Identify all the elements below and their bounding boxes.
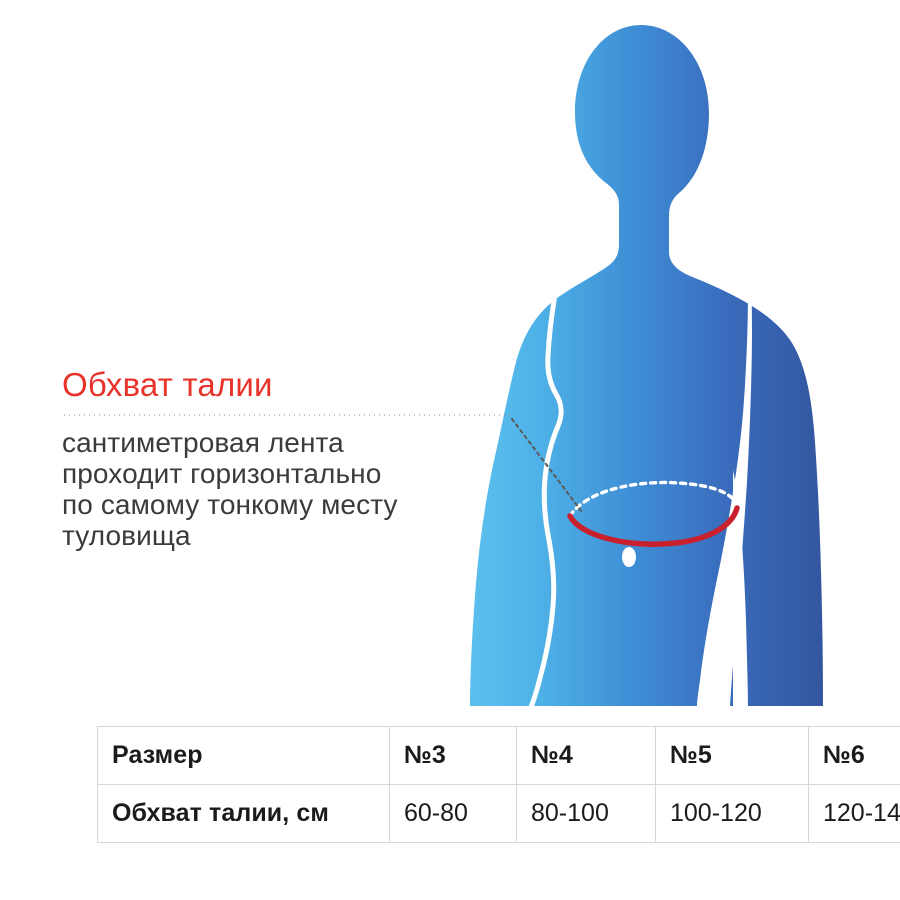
- right-arm-separation: [697, 218, 752, 707]
- table-cell-waist-4: 80-100: [517, 785, 656, 843]
- left-arm-contour: [531, 288, 561, 707]
- table-row-label: Обхват талии, см: [98, 785, 390, 843]
- measurement-guide-page: Обхват талии сантиметровая лента проходи…: [0, 0, 900, 900]
- leader-line-diagonal: [512, 419, 582, 512]
- table-cell-waist-5: 100-120: [656, 785, 809, 843]
- table-cell-waist-3: 60-80: [390, 785, 517, 843]
- table-header-size-4: №4: [517, 727, 656, 785]
- table-row: Обхват талии, см 60-80 80-100 100-120 12…: [98, 785, 900, 843]
- annotation-description: сантиметровая лента проходит горизонталь…: [62, 427, 512, 551]
- table-header-size-6: №6: [809, 727, 900, 785]
- waist-measurement-band: [570, 482, 737, 544]
- silhouette-body: [470, 25, 823, 706]
- size-table-container: Размер №3 №4 №5 №6 Обхват талии, см 60-8…: [97, 726, 815, 843]
- annotation-block: Обхват талии сантиметровая лента проходи…: [62, 366, 512, 551]
- navel-mark: [622, 547, 636, 567]
- dotted-divider: [62, 414, 512, 416]
- table-cell-waist-6: 120-140: [809, 785, 900, 843]
- annotation-title: Обхват талии: [62, 366, 512, 404]
- table-header-size-3: №3: [390, 727, 517, 785]
- size-table: Размер №3 №4 №5 №6 Обхват талии, см 60-8…: [97, 726, 900, 843]
- table-header-size: Размер: [98, 727, 390, 785]
- table-row-header: Размер №3 №4 №5 №6: [98, 727, 900, 785]
- table-header-size-5: №5: [656, 727, 809, 785]
